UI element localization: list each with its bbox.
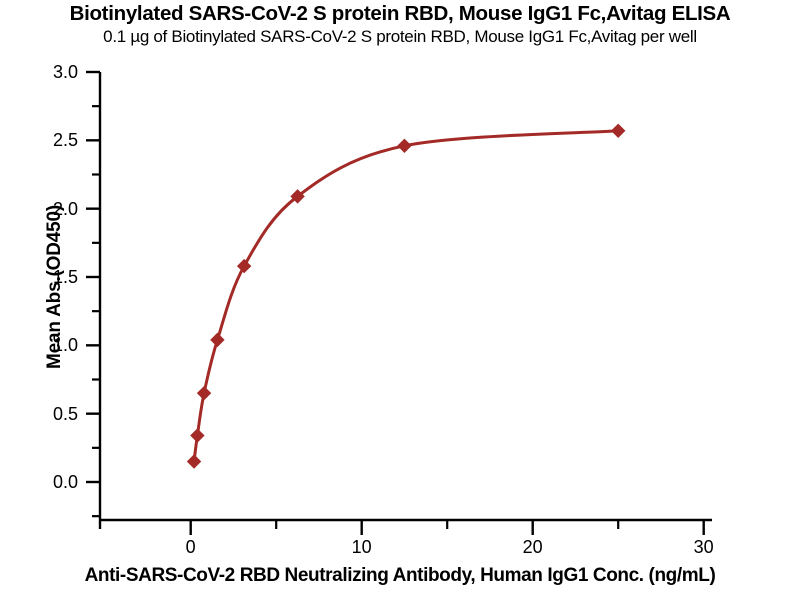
y-tick-label: 0.5	[18, 405, 78, 423]
axes-group	[100, 72, 712, 520]
data-point-marker	[611, 124, 625, 138]
data-point-marker	[197, 386, 211, 400]
data-point-marker	[190, 428, 204, 442]
x-tick-label: 30	[674, 538, 734, 556]
data-markers-group	[187, 124, 626, 469]
y-tick-label: 0.0	[18, 473, 78, 491]
y-tick-label: 2.0	[18, 200, 78, 218]
x-ticks-group	[100, 520, 704, 535]
elisa-chart-figure: Biotinylated SARS-CoV-2 S protein RBD, M…	[0, 0, 800, 600]
y-tick-label: 3.0	[18, 63, 78, 81]
y-tick-label: 1.5	[18, 268, 78, 286]
data-point-marker	[210, 333, 224, 347]
x-tick-label: 10	[332, 538, 392, 556]
y-tick-label: 1.0	[18, 336, 78, 354]
plot-area	[0, 0, 800, 600]
y-tick-label: 2.5	[18, 131, 78, 149]
fit-curve-line	[194, 131, 618, 462]
x-tick-label: 20	[503, 538, 563, 556]
x-tick-label: 0	[161, 538, 221, 556]
data-series-group	[187, 124, 626, 469]
data-point-marker	[397, 139, 411, 153]
y-ticks-group	[86, 72, 100, 516]
data-point-marker	[237, 259, 251, 273]
data-point-marker	[187, 454, 201, 468]
